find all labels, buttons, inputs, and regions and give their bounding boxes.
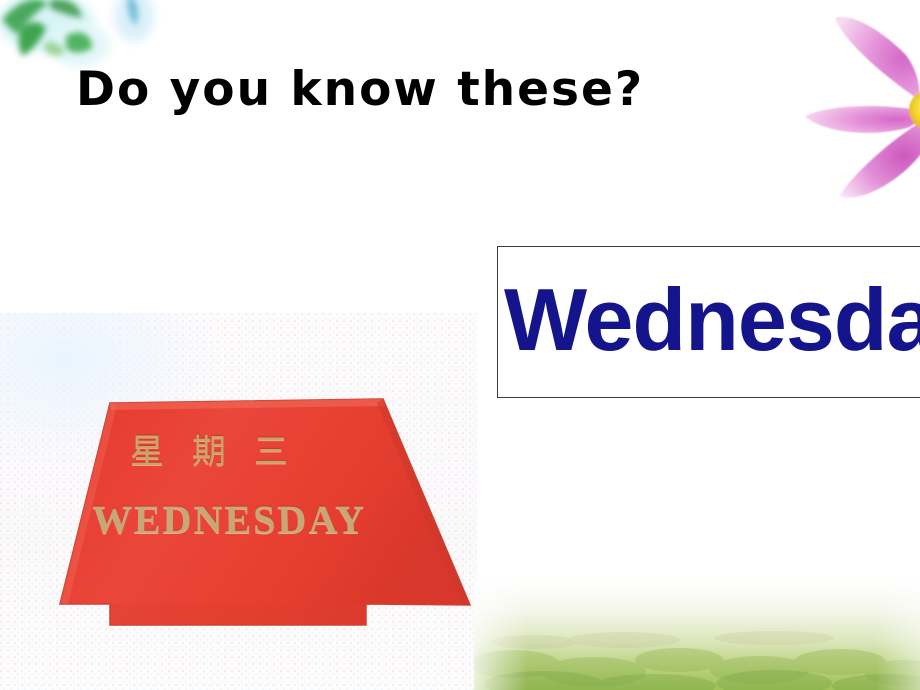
word-label: Wednesday: [504, 269, 920, 371]
grass-field-svg: [474, 580, 920, 690]
grass-field-image: [474, 580, 920, 690]
slide-canvas: 星期三 WEDNESDAY: [0, 0, 920, 690]
flower-icon-svg: [769, 0, 920, 247]
flower-icon: [769, 0, 920, 247]
calendar-card-english-label: WEDNESDAY: [91, 496, 367, 543]
calendar-card-chinese-label: 星期三: [130, 424, 316, 473]
word-textbox[interactable]: Wednesday: [497, 246, 920, 398]
calendar-card-labels: 星期三 WEDNESDAY: [0, 0, 477, 377]
page-title: Do you know these?: [76, 62, 644, 117]
